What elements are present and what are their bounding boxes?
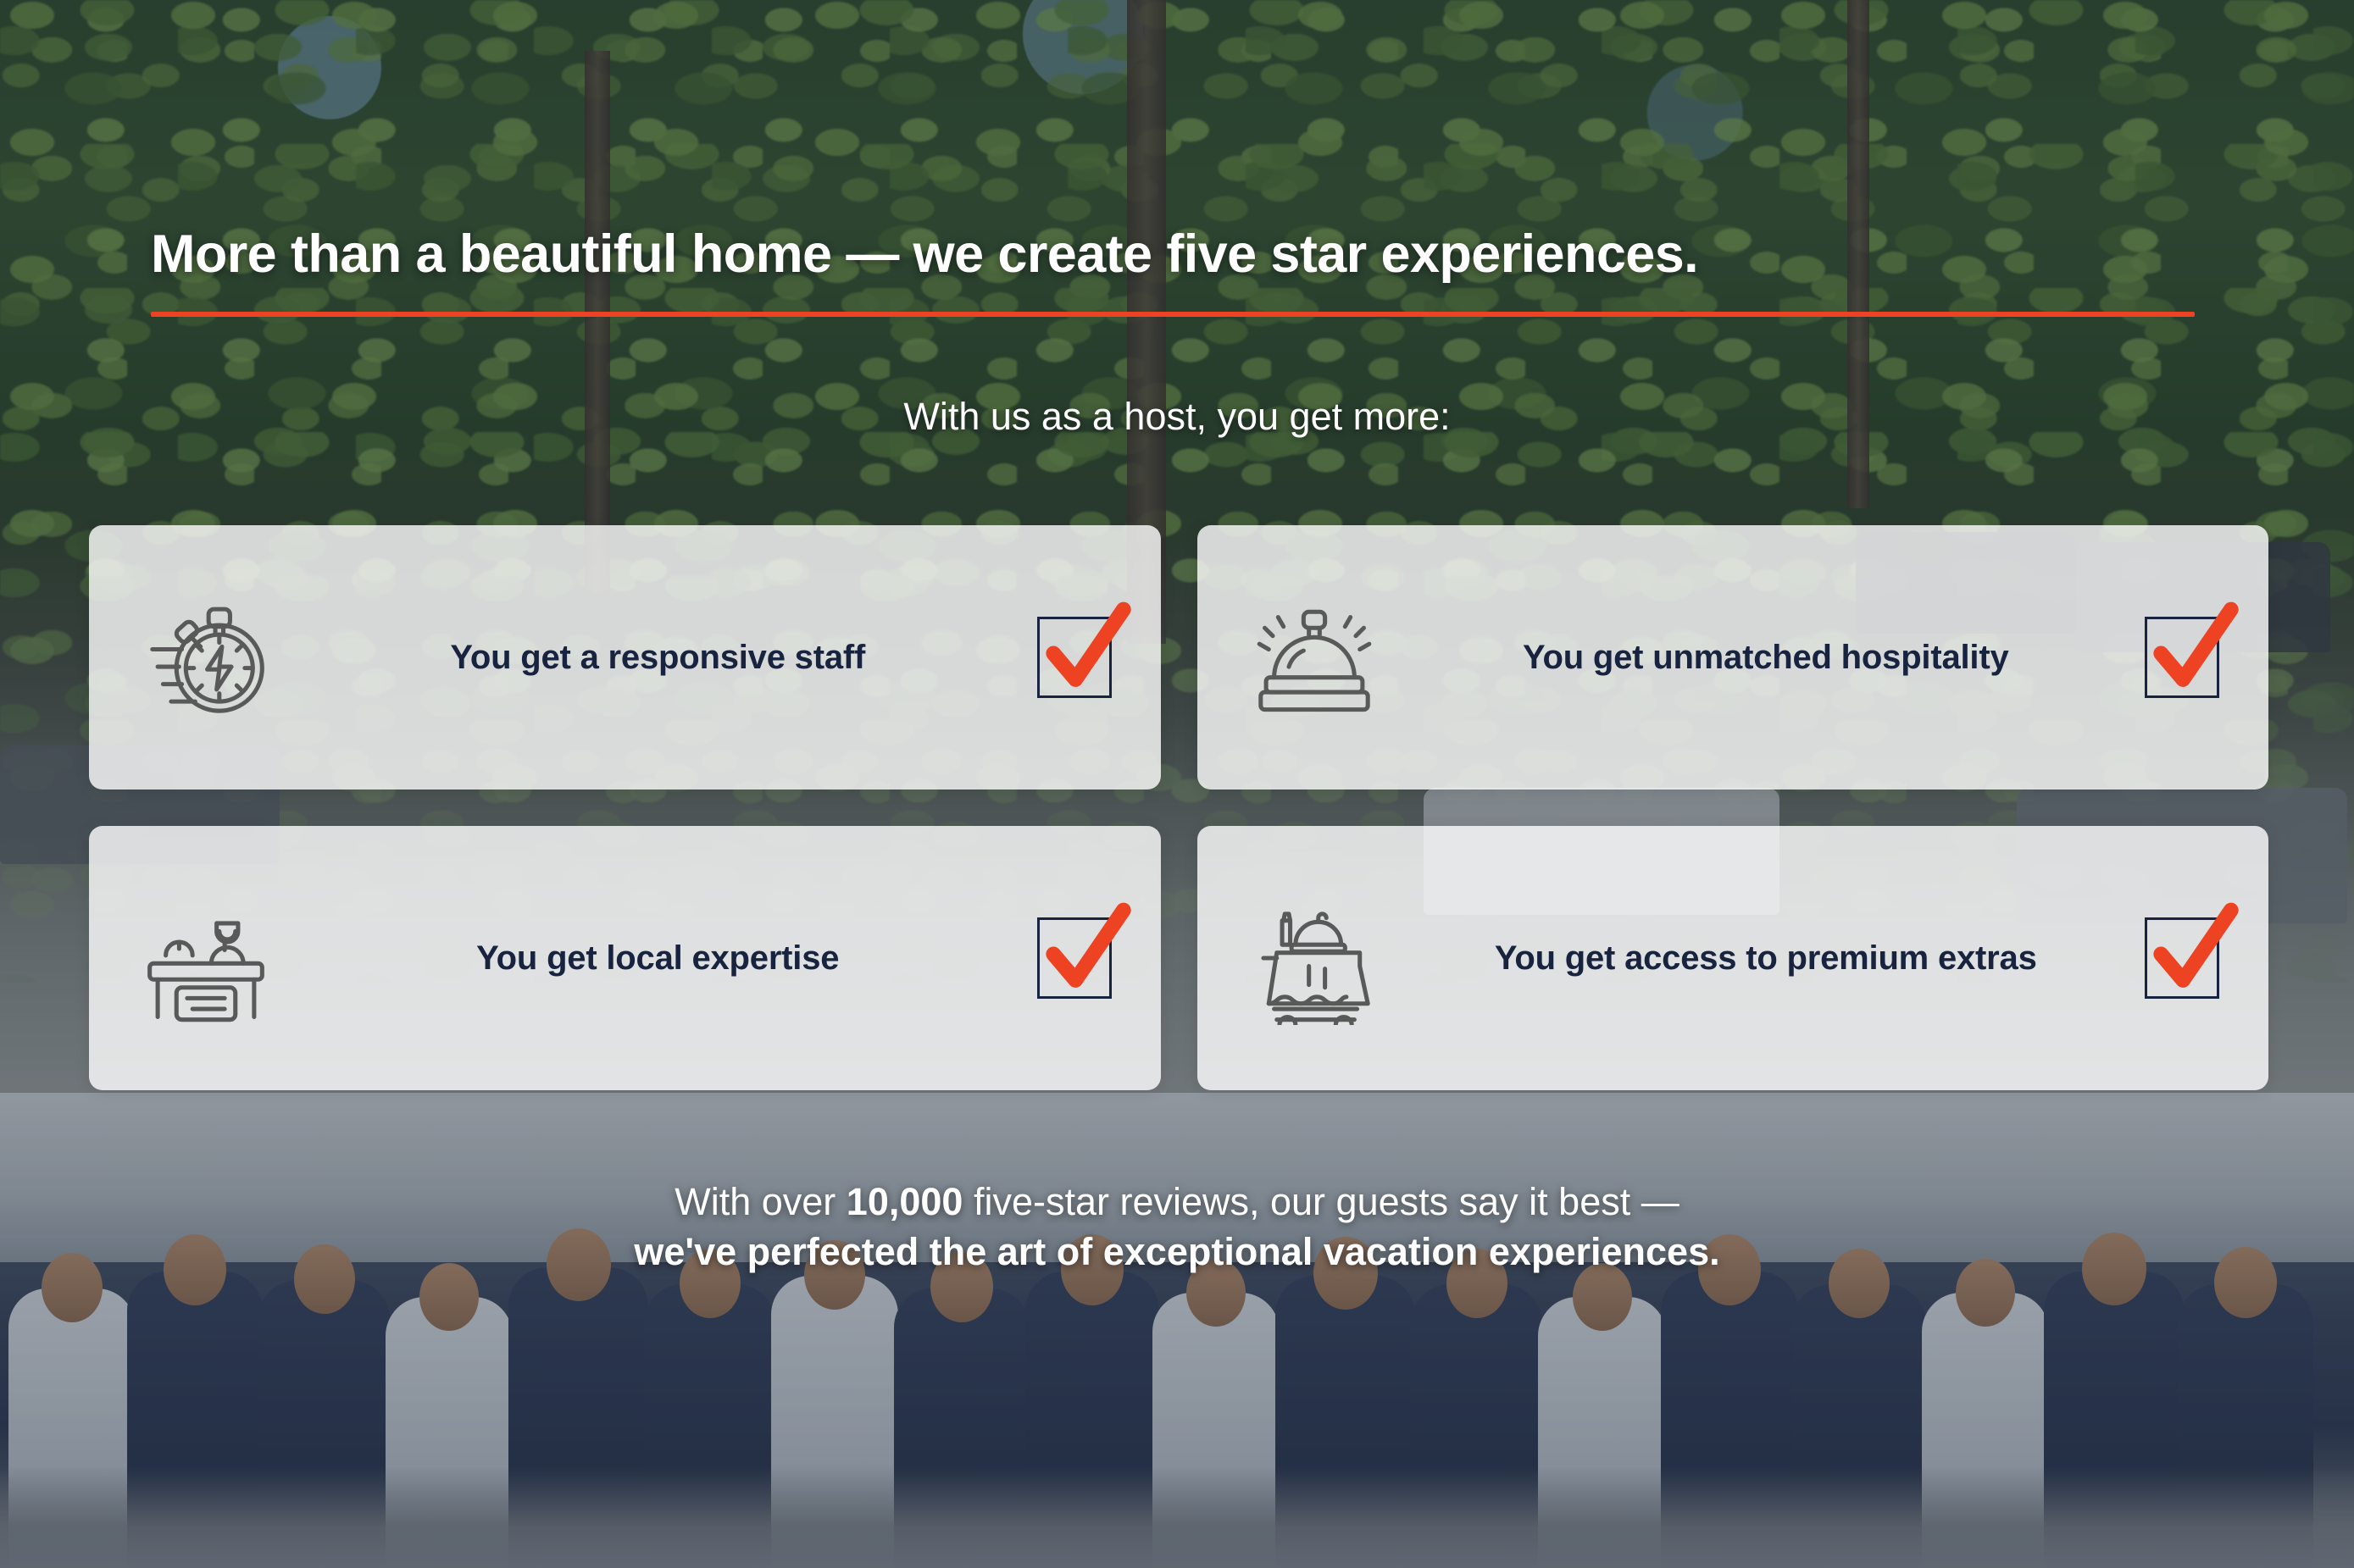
check-icon xyxy=(2143,601,2243,701)
page-subtitle: With us as a host, you get more: xyxy=(0,395,2354,439)
review-count: 10,000 xyxy=(847,1180,963,1223)
benefit-label: You get a responsive staff xyxy=(279,639,1037,677)
benefit-card-unmatched-hospitality[interactable]: You get unmatched hospitality xyxy=(1197,525,2269,790)
stopwatch-lightning-icon xyxy=(133,585,279,730)
check-icon xyxy=(1035,902,1135,1002)
benefit-label: You get access to premium extras xyxy=(1387,939,2146,978)
closing-prefix: With over xyxy=(675,1180,847,1223)
closing-line-1: With over 10,000 five-star reviews, our … xyxy=(0,1177,2354,1227)
headline-underline-rule xyxy=(151,312,2195,317)
closing-suffix: five-star reviews, our guests say it bes… xyxy=(963,1180,1679,1223)
benefit-label: You get local expertise xyxy=(279,939,1037,978)
room-service-cart-icon xyxy=(1241,885,1387,1031)
benefit-checkbox[interactable] xyxy=(2145,617,2226,698)
benefit-card-responsive-staff[interactable]: You get a responsive staff xyxy=(89,525,1161,790)
closing-statement: With over 10,000 five-star reviews, our … xyxy=(0,1177,2354,1277)
page-title: More than a beautiful home — we create f… xyxy=(151,224,2201,285)
check-icon xyxy=(1035,601,1135,701)
benefit-card-local-expertise[interactable]: You get local expertise xyxy=(89,826,1161,1090)
benefit-checkbox[interactable] xyxy=(1037,917,1119,999)
check-icon xyxy=(2143,902,2243,1002)
benefit-checkbox[interactable] xyxy=(1037,617,1119,698)
benefit-card-premium-extras[interactable]: You get access to premium extras xyxy=(1197,826,2269,1090)
benefits-grid: You get a responsive staff xyxy=(89,525,2268,1090)
closing-line-2: we've perfected the art of exceptional v… xyxy=(0,1227,2354,1277)
benefit-label: You get unmatched hospitality xyxy=(1387,639,2146,677)
benefit-checkbox[interactable] xyxy=(2145,917,2226,999)
service-bell-icon xyxy=(1241,585,1387,730)
concierge-desk-icon xyxy=(133,885,279,1031)
